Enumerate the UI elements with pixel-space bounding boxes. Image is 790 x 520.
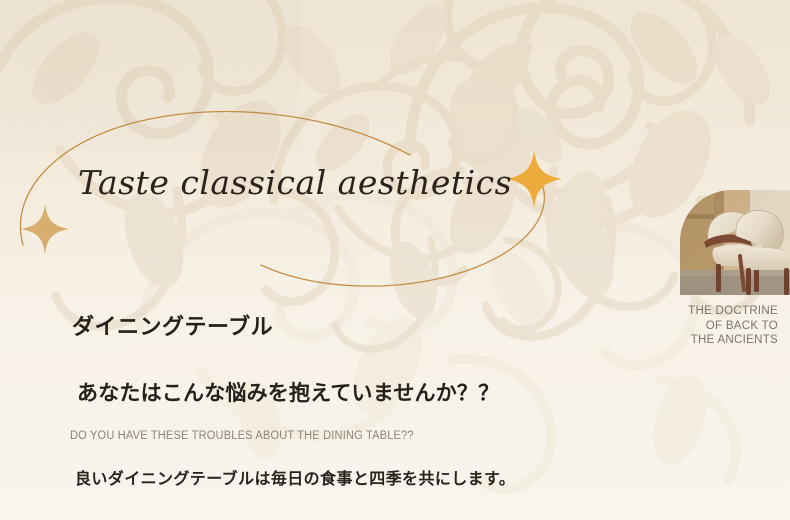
sparkle-icon [506, 150, 562, 208]
photo-caption: THE DOCTRINE OF BACK TO THE ANCIENTS [650, 304, 778, 348]
hero-title: Taste classical aesthetics [78, 163, 512, 202]
photo-caption-line-2: OF BACK TO [650, 319, 778, 334]
chair-photo-image [680, 190, 790, 295]
sparkle-icon [21, 204, 69, 254]
chair-photo [680, 190, 790, 295]
page-title: ダイニングテーブル [72, 309, 273, 341]
photo-caption-line-3: THE ANCIENTS [650, 333, 778, 348]
question-heading: あなたはこんな悩みを抱えていませんか？？ [77, 377, 499, 407]
subtitle-english: DO YOU HAVE THESE TROUBLES ABOUT THE DIN… [70, 430, 414, 442]
photo-caption-line-1: THE DOCTRINE [650, 304, 778, 319]
promo-banner: Taste classical aesthetics ダイニングテーブル あなた… [0, 0, 790, 520]
tagline: 良いダイニングテーブルは毎日の食事と四季を共にします。 [75, 465, 515, 489]
